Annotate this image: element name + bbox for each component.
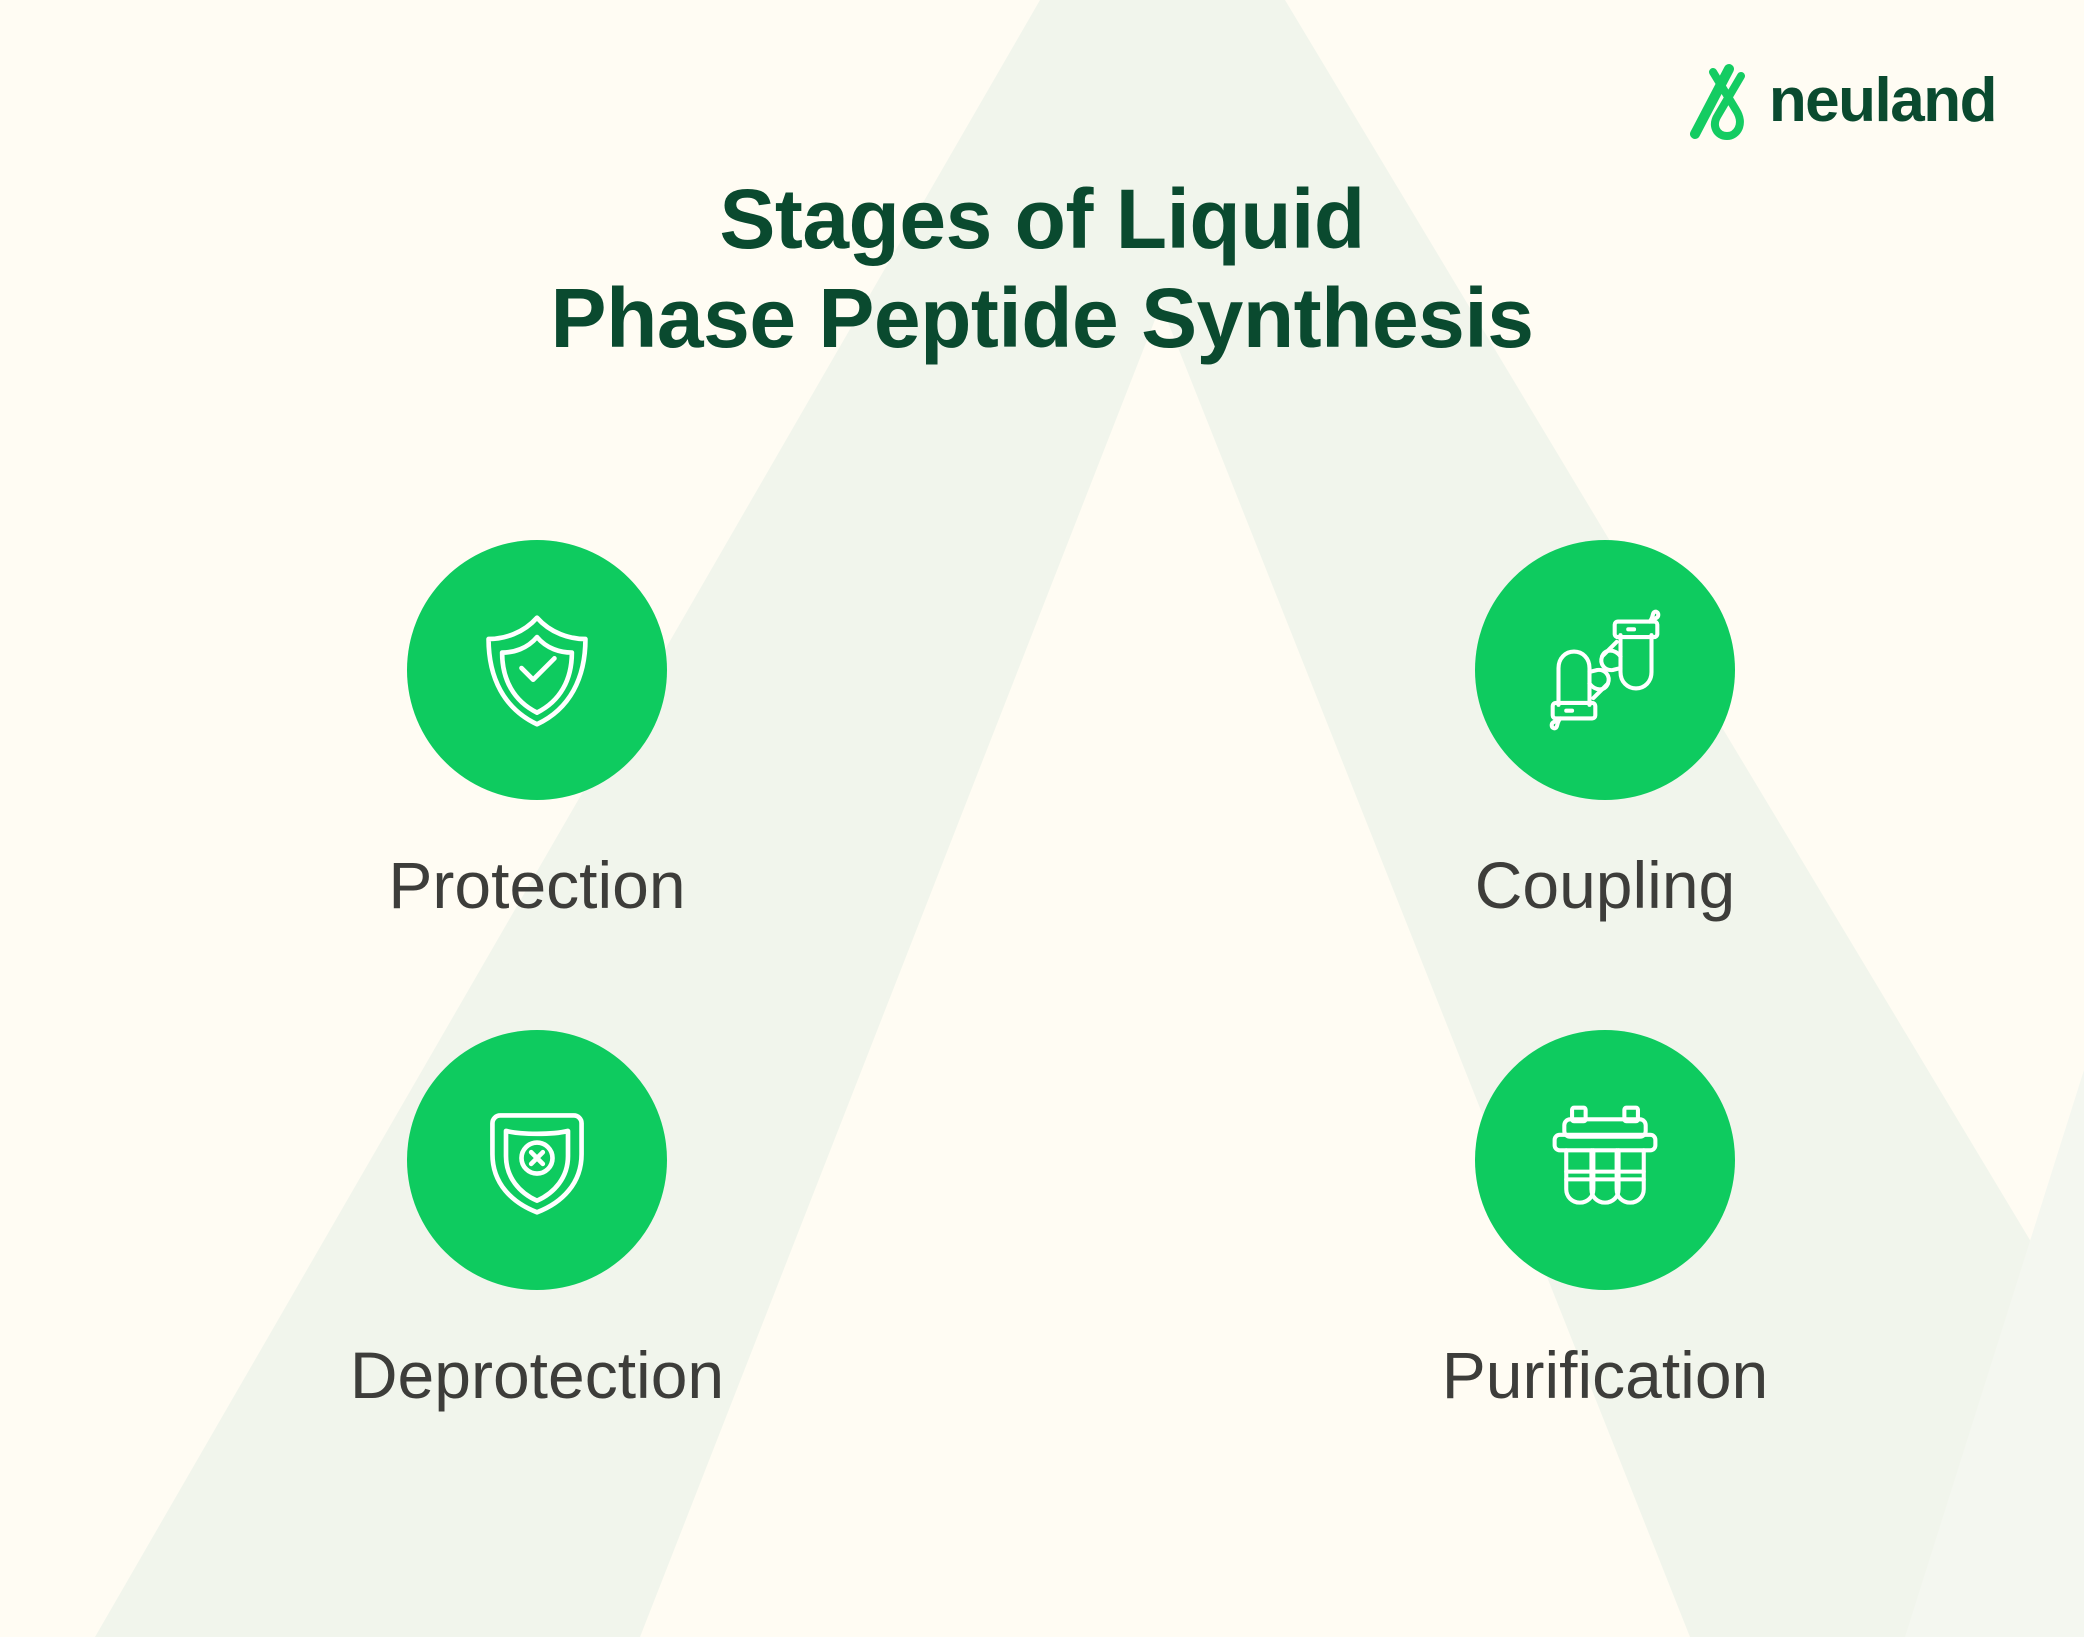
stage-grid: Protection (0, 540, 2084, 1408)
stage-icon-badge (1475, 540, 1735, 800)
filter-cartridge-icon (1543, 1098, 1667, 1222)
stage-item-purification: Purification (1042, 1030, 2084, 1408)
stage-item-deprotection: Deprotection (0, 1030, 1042, 1408)
stage-icon-badge (1475, 1030, 1735, 1290)
page-title-line-2: Phase Peptide Synthesis (0, 269, 2084, 368)
stage-item-coupling: Coupling (1042, 540, 2084, 918)
stage-label: Coupling (1475, 852, 1736, 918)
stage-item-protection: Protection (0, 540, 1042, 918)
brand-logo-text: neuland (1769, 70, 1996, 132)
stage-icon-badge (407, 1030, 667, 1290)
brand-logo: neuland (1689, 62, 1996, 140)
stage-label: Protection (388, 852, 685, 918)
stage-icon-badge (407, 540, 667, 800)
stage-label: Deprotection (350, 1342, 724, 1408)
shield-x-icon (475, 1098, 599, 1222)
stage-label: Purification (1442, 1342, 1769, 1408)
neuland-monogram-icon (1689, 62, 1755, 140)
page-title-line-1: Stages of Liquid (0, 170, 2084, 269)
shield-check-icon (475, 608, 599, 732)
interlocking-gloves-icon (1543, 608, 1667, 732)
page-title: Stages of Liquid Phase Peptide Synthesis (0, 170, 2084, 368)
